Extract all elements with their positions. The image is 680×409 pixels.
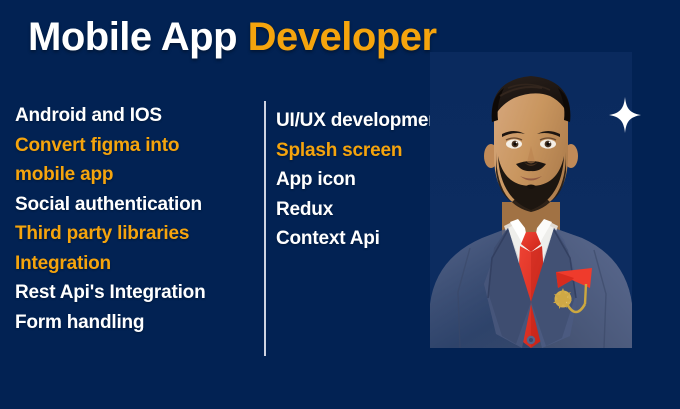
column-divider xyxy=(264,101,266,356)
service-item: Context Api xyxy=(276,224,446,254)
service-item: Third party libraries xyxy=(15,219,206,249)
portrait-photo xyxy=(430,52,632,348)
page-title: Mobile App Developer xyxy=(28,14,437,60)
service-item: mobile app xyxy=(15,160,206,190)
service-item: Splash screen xyxy=(276,136,446,166)
title-primary: Mobile App xyxy=(28,15,248,59)
service-item: Convert figma into xyxy=(15,131,206,161)
sparkle-icon xyxy=(609,97,641,133)
title-accent: Developer xyxy=(248,15,437,59)
service-item: Integration xyxy=(15,249,206,279)
service-list-left: Android and IOS Convert figma into mobil… xyxy=(15,101,206,337)
service-item: App icon xyxy=(276,165,446,195)
service-item: Social authentication xyxy=(15,190,206,220)
service-list-right: UI/UX development Splash screen App icon… xyxy=(276,106,446,254)
service-item: Redux xyxy=(276,195,446,225)
service-item: Form handling xyxy=(15,308,206,338)
service-item: UI/UX development xyxy=(276,106,446,136)
service-item: Android and IOS xyxy=(15,101,206,131)
service-item: Rest Api's Integration xyxy=(15,278,206,308)
promo-banner: Mobile App Developer Android and IOS Con… xyxy=(0,0,680,409)
